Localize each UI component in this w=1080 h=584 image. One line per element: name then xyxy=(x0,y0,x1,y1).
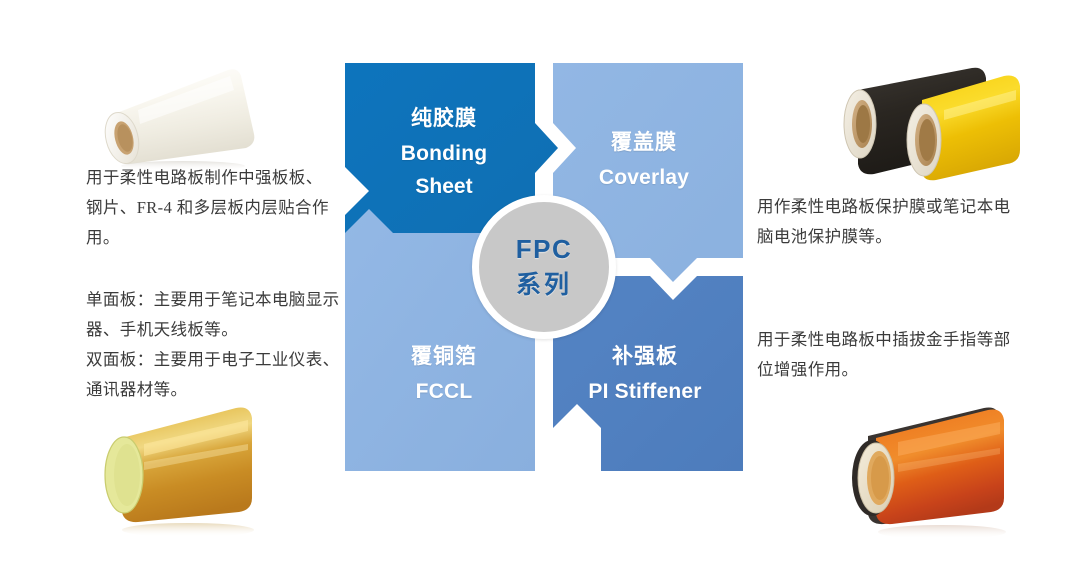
caption-bonding-sheet: 用于柔性电路板制作中强板板、钢片、FR-4 和多层板内层贴合作用。 xyxy=(86,163,338,253)
caption-coverlay: 用作柔性电路板保护膜或笔记本电脑电池保护膜等。 xyxy=(757,192,1015,252)
fpc-series-diagram: 纯胶膜 Bonding Sheet 覆盖膜 Coverlay 覆铜箔 FCCL … xyxy=(345,63,743,471)
center-hub-line1: FPC xyxy=(516,233,573,267)
center-hub-line2: 系列 xyxy=(516,269,572,302)
caption-pi-stiffener: 用于柔性电路板中插拔金手指等部位增强作用。 xyxy=(757,325,1015,385)
golden-fccl-roll-photo xyxy=(78,402,293,552)
center-hub[interactable]: FPC 系列 xyxy=(472,195,616,339)
black-yellow-coverlay-rolls-photo xyxy=(822,58,1042,190)
page-canvas: 纯胶膜 Bonding Sheet 覆盖膜 Coverlay 覆铜箔 FCCL … xyxy=(0,0,1080,584)
orange-pi-stiffener-roll-photo xyxy=(832,402,1052,552)
white-film-roll-photo xyxy=(78,52,268,172)
caption-fccl: 单面板：主要用于笔记本电脑显示器、手机天线板等。 双面板：主要用于电子工业仪表、… xyxy=(86,285,344,405)
